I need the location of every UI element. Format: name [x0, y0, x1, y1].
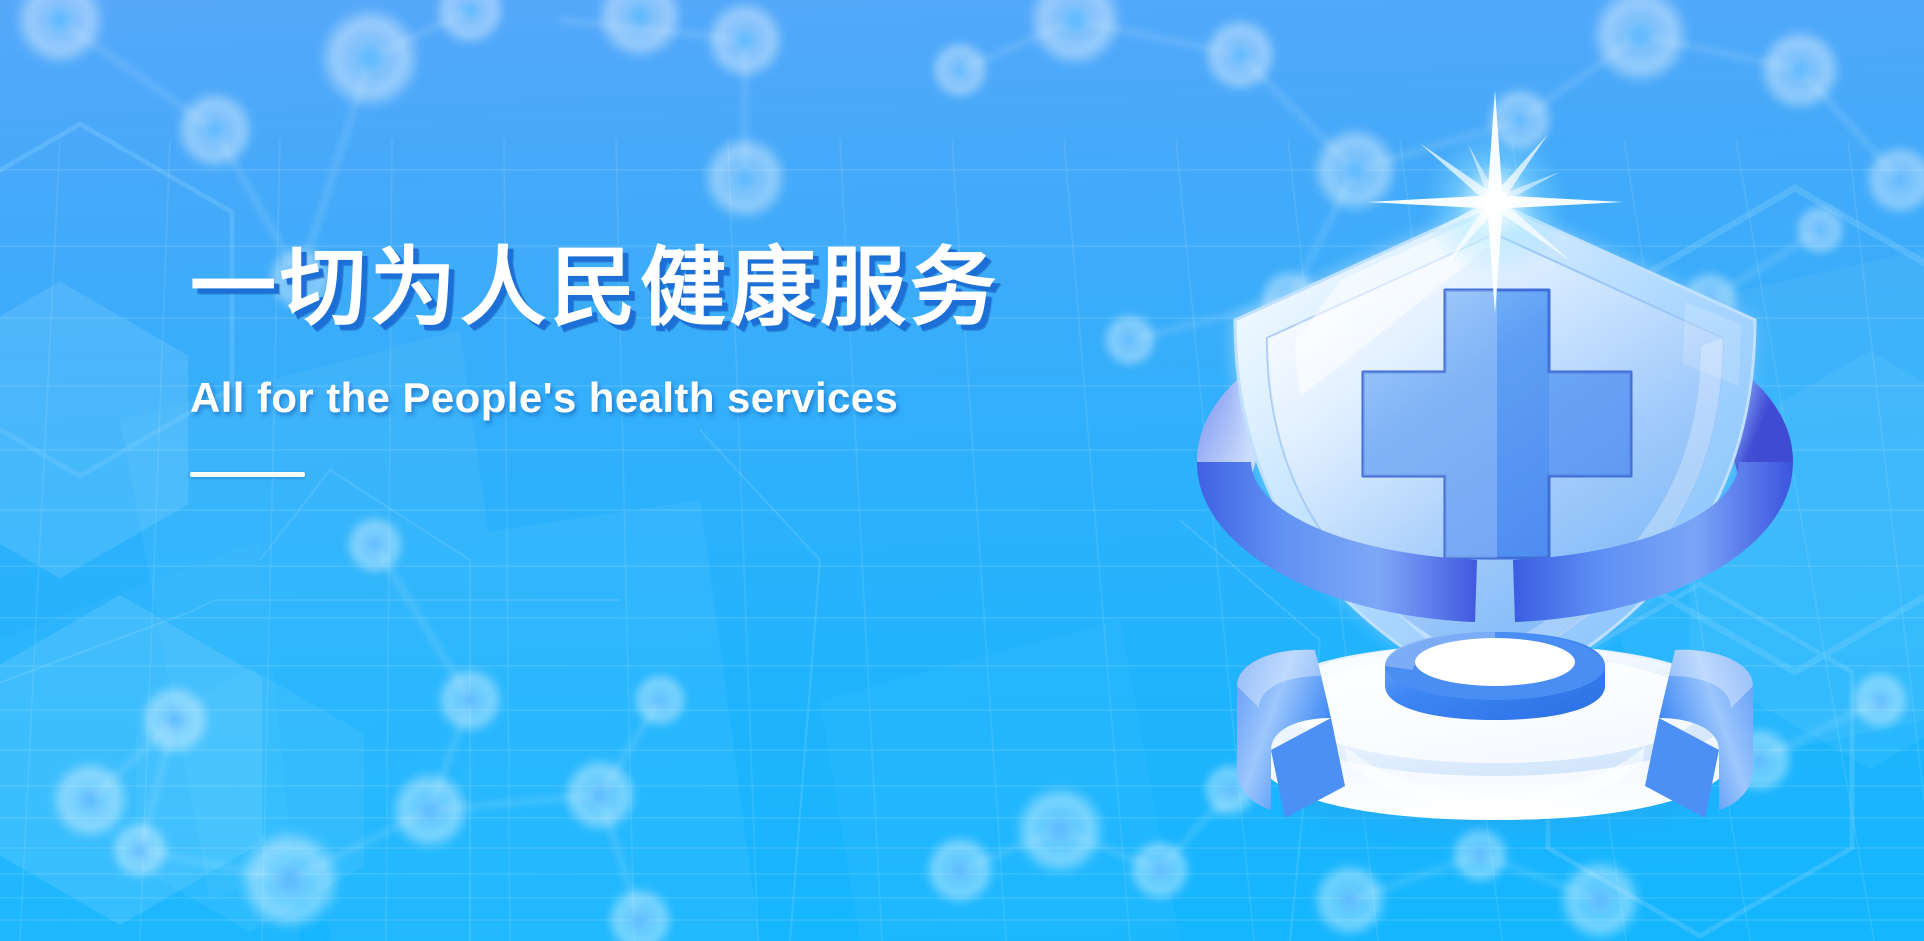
health-banner: 一切为人民健康服务 All for the People's health se…: [0, 0, 1924, 941]
podium-base: [1237, 632, 1753, 830]
copy-block: 一切为人民健康服务 All for the People's health se…: [190, 240, 1090, 477]
podium-top-plate: [1385, 632, 1605, 720]
page-title: 一切为人民健康服务: [190, 240, 1090, 336]
page-subtitle: All for the People's health services: [190, 374, 1090, 422]
medical-shield-illustration: [1145, 110, 1845, 840]
title-divider: [190, 472, 305, 477]
